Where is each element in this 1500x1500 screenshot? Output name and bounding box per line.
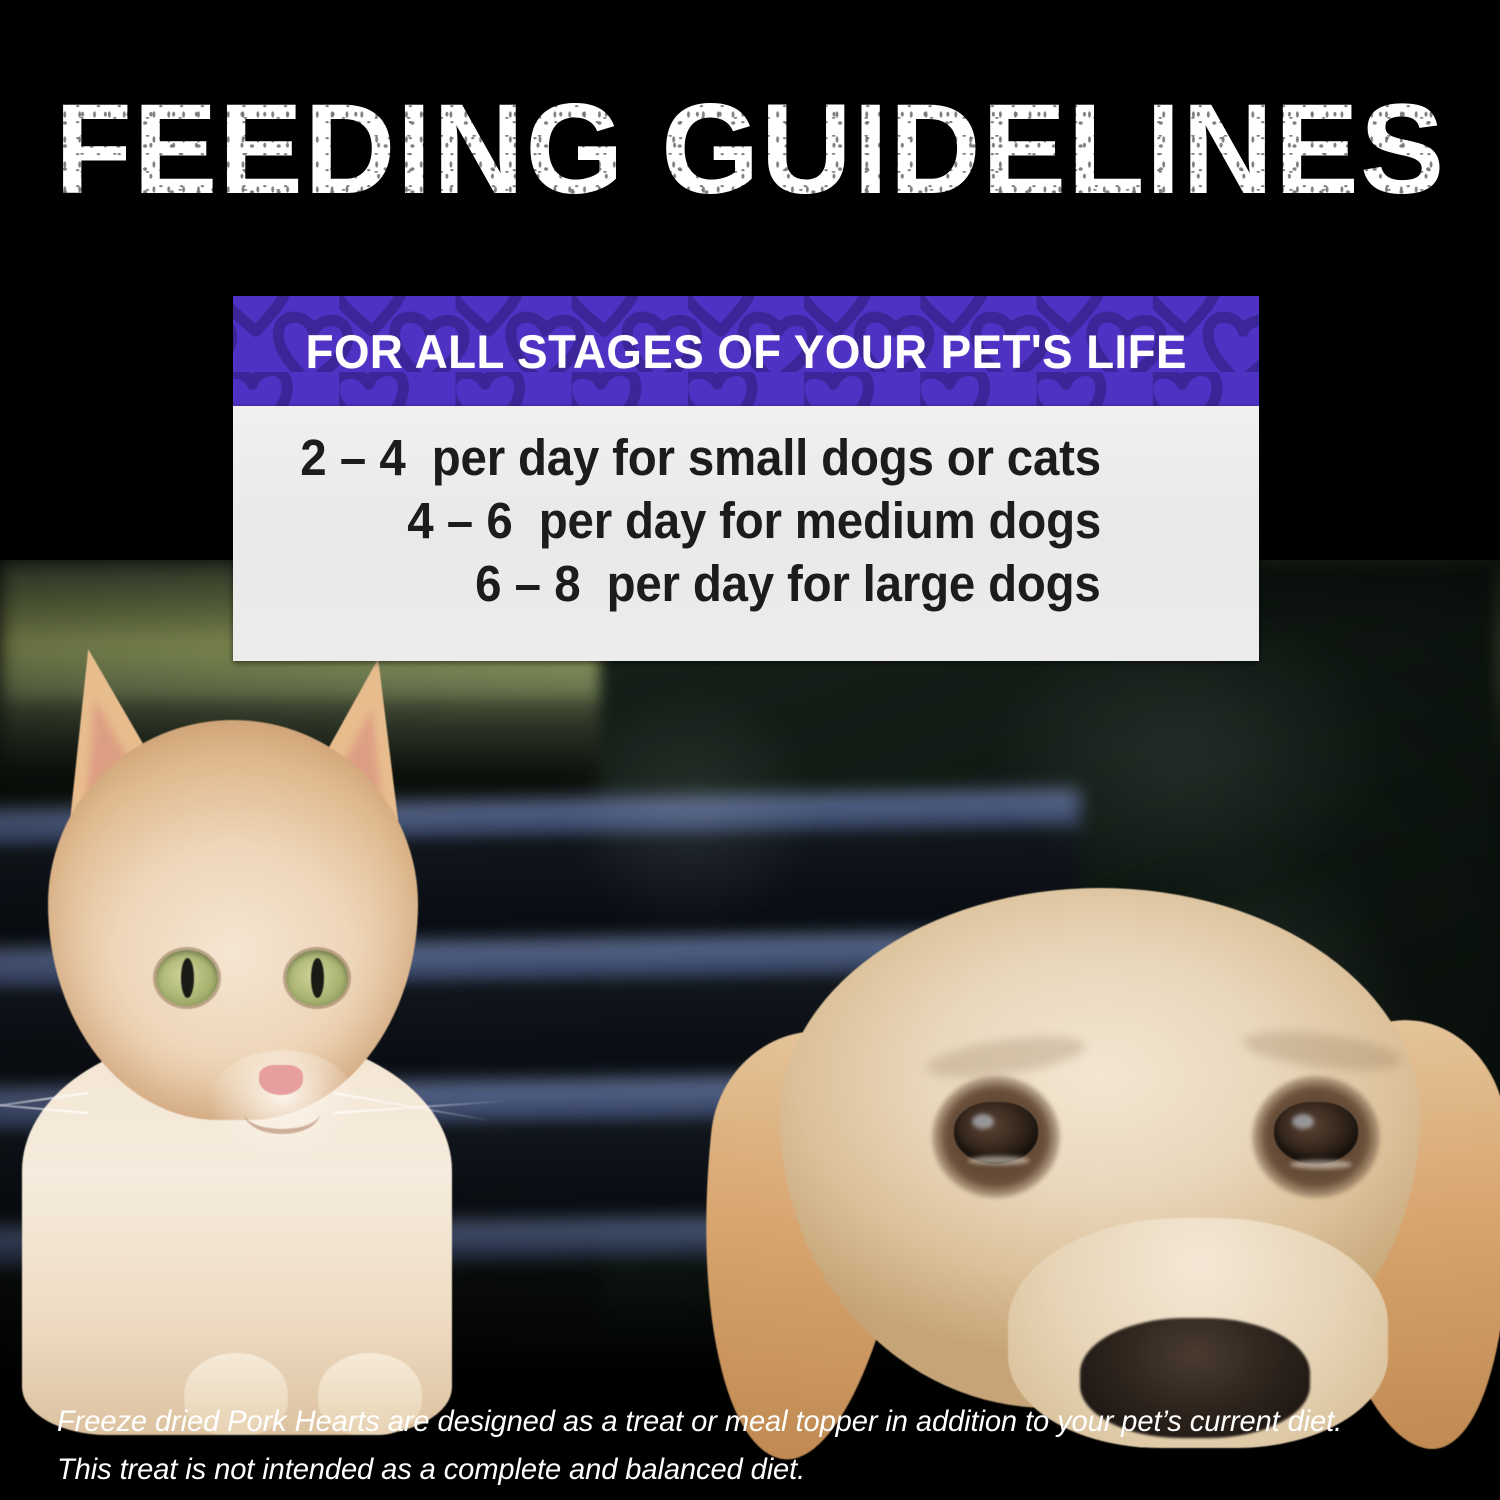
dog-eye-rim-left [968, 1156, 1030, 1165]
feeding-description: per day for large dogs [607, 555, 1101, 612]
feeding-guidelines-graphic: FEEDING GUIDELINES FOR ALL STAGES O [0, 0, 1500, 1500]
feeding-row: 4 – 6 per day for medium dogs [407, 489, 1101, 552]
kitten-mouth [244, 1092, 320, 1134]
dog-eye-glint-left [972, 1114, 994, 1129]
kitten-eye-right [286, 950, 348, 1006]
dog-head [780, 888, 1420, 1408]
feeding-row: 6 – 8 per day for large dogs [475, 552, 1101, 615]
dog-brow-right [1241, 1024, 1404, 1077]
kitten-nose [259, 1065, 303, 1095]
disclaimer-line-1: Freeze dried Pork Hearts are designed as… [57, 1398, 1415, 1446]
page-title-text: FEEDING GUIDELINES [55, 86, 1446, 214]
feeding-range: 4 – 6 [407, 492, 512, 549]
feeding-amounts-list: 2 – 4 per day for small dogs or cats 4 –… [233, 426, 1259, 615]
dog-eye-left [954, 1102, 1038, 1164]
feeding-amounts-panel: 2 – 4 per day for small dogs or cats 4 –… [233, 406, 1259, 661]
kitten-pupil-right [311, 958, 324, 998]
dog-eye-right [1274, 1102, 1358, 1164]
feeding-range: 2 – 4 [300, 429, 405, 486]
page-title: FEEDING GUIDELINES [8, 86, 1493, 214]
disclaimer-line-2: This treat is not intended as a complete… [57, 1446, 1415, 1494]
disclaimer: Freeze dried Pork Hearts are designed as… [57, 1398, 1415, 1494]
life-stages-banner: FOR ALL STAGES OF YOUR PET'S LIFE [233, 296, 1259, 406]
life-stages-banner-text: FOR ALL STAGES OF YOUR PET'S LIFE [305, 324, 1186, 379]
dog-subject [690, 880, 1500, 1385]
feeding-range: 6 – 8 [475, 555, 580, 612]
kitten-head [48, 720, 418, 1120]
feeding-panel: FOR ALL STAGES OF YOUR PET'S LIFE 2 – 4 … [233, 296, 1259, 661]
feeding-description: per day for small dogs or cats [432, 429, 1101, 486]
feeding-row: 2 – 4 per day for small dogs or cats [300, 426, 1101, 489]
dog-eye-glint-right [1292, 1114, 1314, 1129]
kitten-subject [0, 625, 660, 1385]
feeding-description: per day for medium dogs [539, 492, 1101, 549]
kitten-eye-left [156, 950, 218, 1006]
kitten-pupil-left [181, 958, 194, 998]
dog-eye-rim-right [1290, 1160, 1352, 1169]
